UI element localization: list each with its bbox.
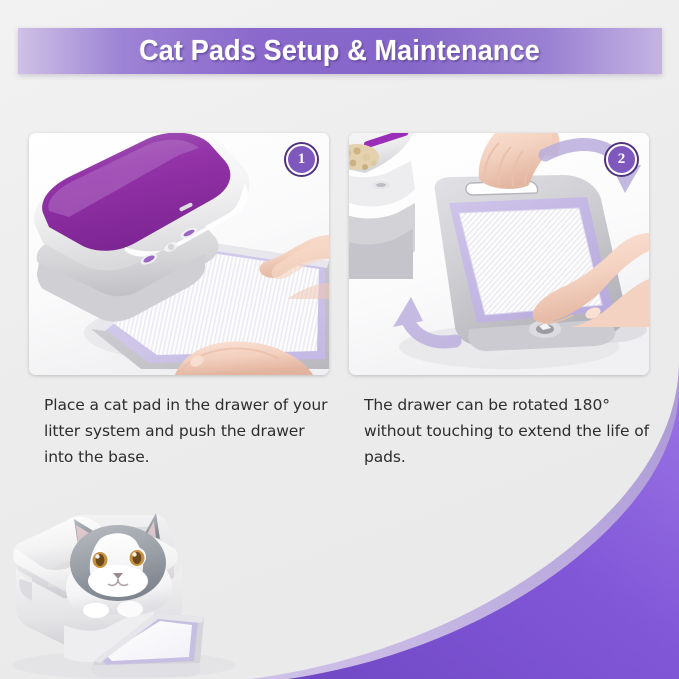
cat [66,513,172,618]
step-2-caption: The drawer can be rotated 180° without t… [364,392,654,470]
step-badge-1: 1 [286,144,317,175]
step-1-caption: Place a cat pad in the drawer of your li… [44,392,334,470]
product-hero-photo [4,505,254,679]
cat-paw-right [117,601,143,617]
cat-paw-left [83,602,109,618]
step-2-photo [349,133,649,375]
step-2-panel[interactable]: 2 [349,133,649,375]
step-1-photo [29,133,329,375]
step-badge-2: 2 [606,144,637,175]
product-infographic-page: Cat Pads Setup & Maintenance [0,0,679,679]
step-1-panel[interactable]: 1 [29,133,329,375]
